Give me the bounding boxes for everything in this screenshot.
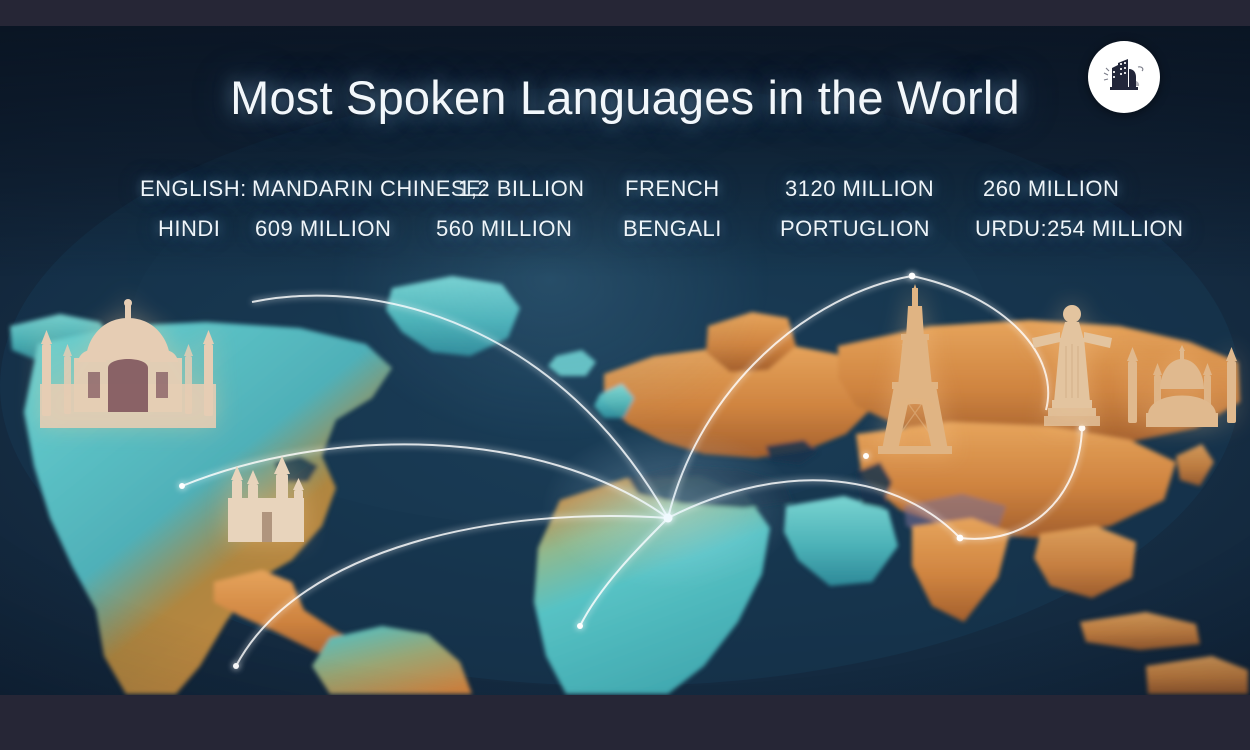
stat-urdu: URDU:254 MILLION xyxy=(975,216,1184,242)
endpoint-rio xyxy=(1079,425,1086,432)
stat-mandarin-value: 1,2 BILLION xyxy=(458,176,585,202)
land-indonesia xyxy=(1080,612,1200,650)
stat-hindi-value: 609 MILLION xyxy=(255,216,391,242)
endpoint-india xyxy=(957,535,964,542)
world-map xyxy=(0,26,1250,695)
endpoint-sa xyxy=(233,663,239,669)
endpoint-afr xyxy=(577,623,583,629)
stat-extra-value: 260 MILLION xyxy=(983,176,1119,202)
infographic-body: Most Spoken Languages in the World xyxy=(0,26,1250,695)
stat-bengali-label: BENGALI xyxy=(623,216,722,242)
stat-secondary-value: 560 MILLION xyxy=(436,216,572,242)
stat-portuguese-label: PORTUGLION xyxy=(780,216,930,242)
stat-hindi-label: HINDI xyxy=(158,216,220,242)
stat-mandarin-label: MANDARIN CHINESE: xyxy=(252,176,488,202)
language-stats: ENGLISH: MANDARIN CHINESE: 1,2 BILLION F… xyxy=(0,176,1250,256)
world-map-svg xyxy=(0,26,1250,695)
monument-building-icon xyxy=(1102,55,1146,99)
infographic-canvas: Most Spoken Languages in the World xyxy=(0,0,1250,750)
endpoint-eiffel-base xyxy=(863,453,869,459)
frame-bottom-strip xyxy=(0,695,1250,750)
endpoint-hub xyxy=(664,514,673,523)
stat-french-label: FRENCH xyxy=(625,176,720,202)
page-title: Most Spoken Languages in the World xyxy=(0,70,1250,125)
endpoint-paris xyxy=(909,273,916,280)
logo-badge[interactable] xyxy=(1088,41,1160,113)
stat-french-value: 3120 MILLION xyxy=(785,176,934,202)
frame-top-strip xyxy=(0,0,1250,26)
endpoint-na xyxy=(179,483,185,489)
land-australia xyxy=(1146,656,1248,694)
stats-row-2: HINDI 609 MILLION 560 MILLION BENGALI PO… xyxy=(140,216,1110,256)
stats-row-1: ENGLISH: MANDARIN CHINESE: 1,2 BILLION F… xyxy=(140,176,1110,216)
stat-english-label: ENGLISH: xyxy=(140,176,247,202)
